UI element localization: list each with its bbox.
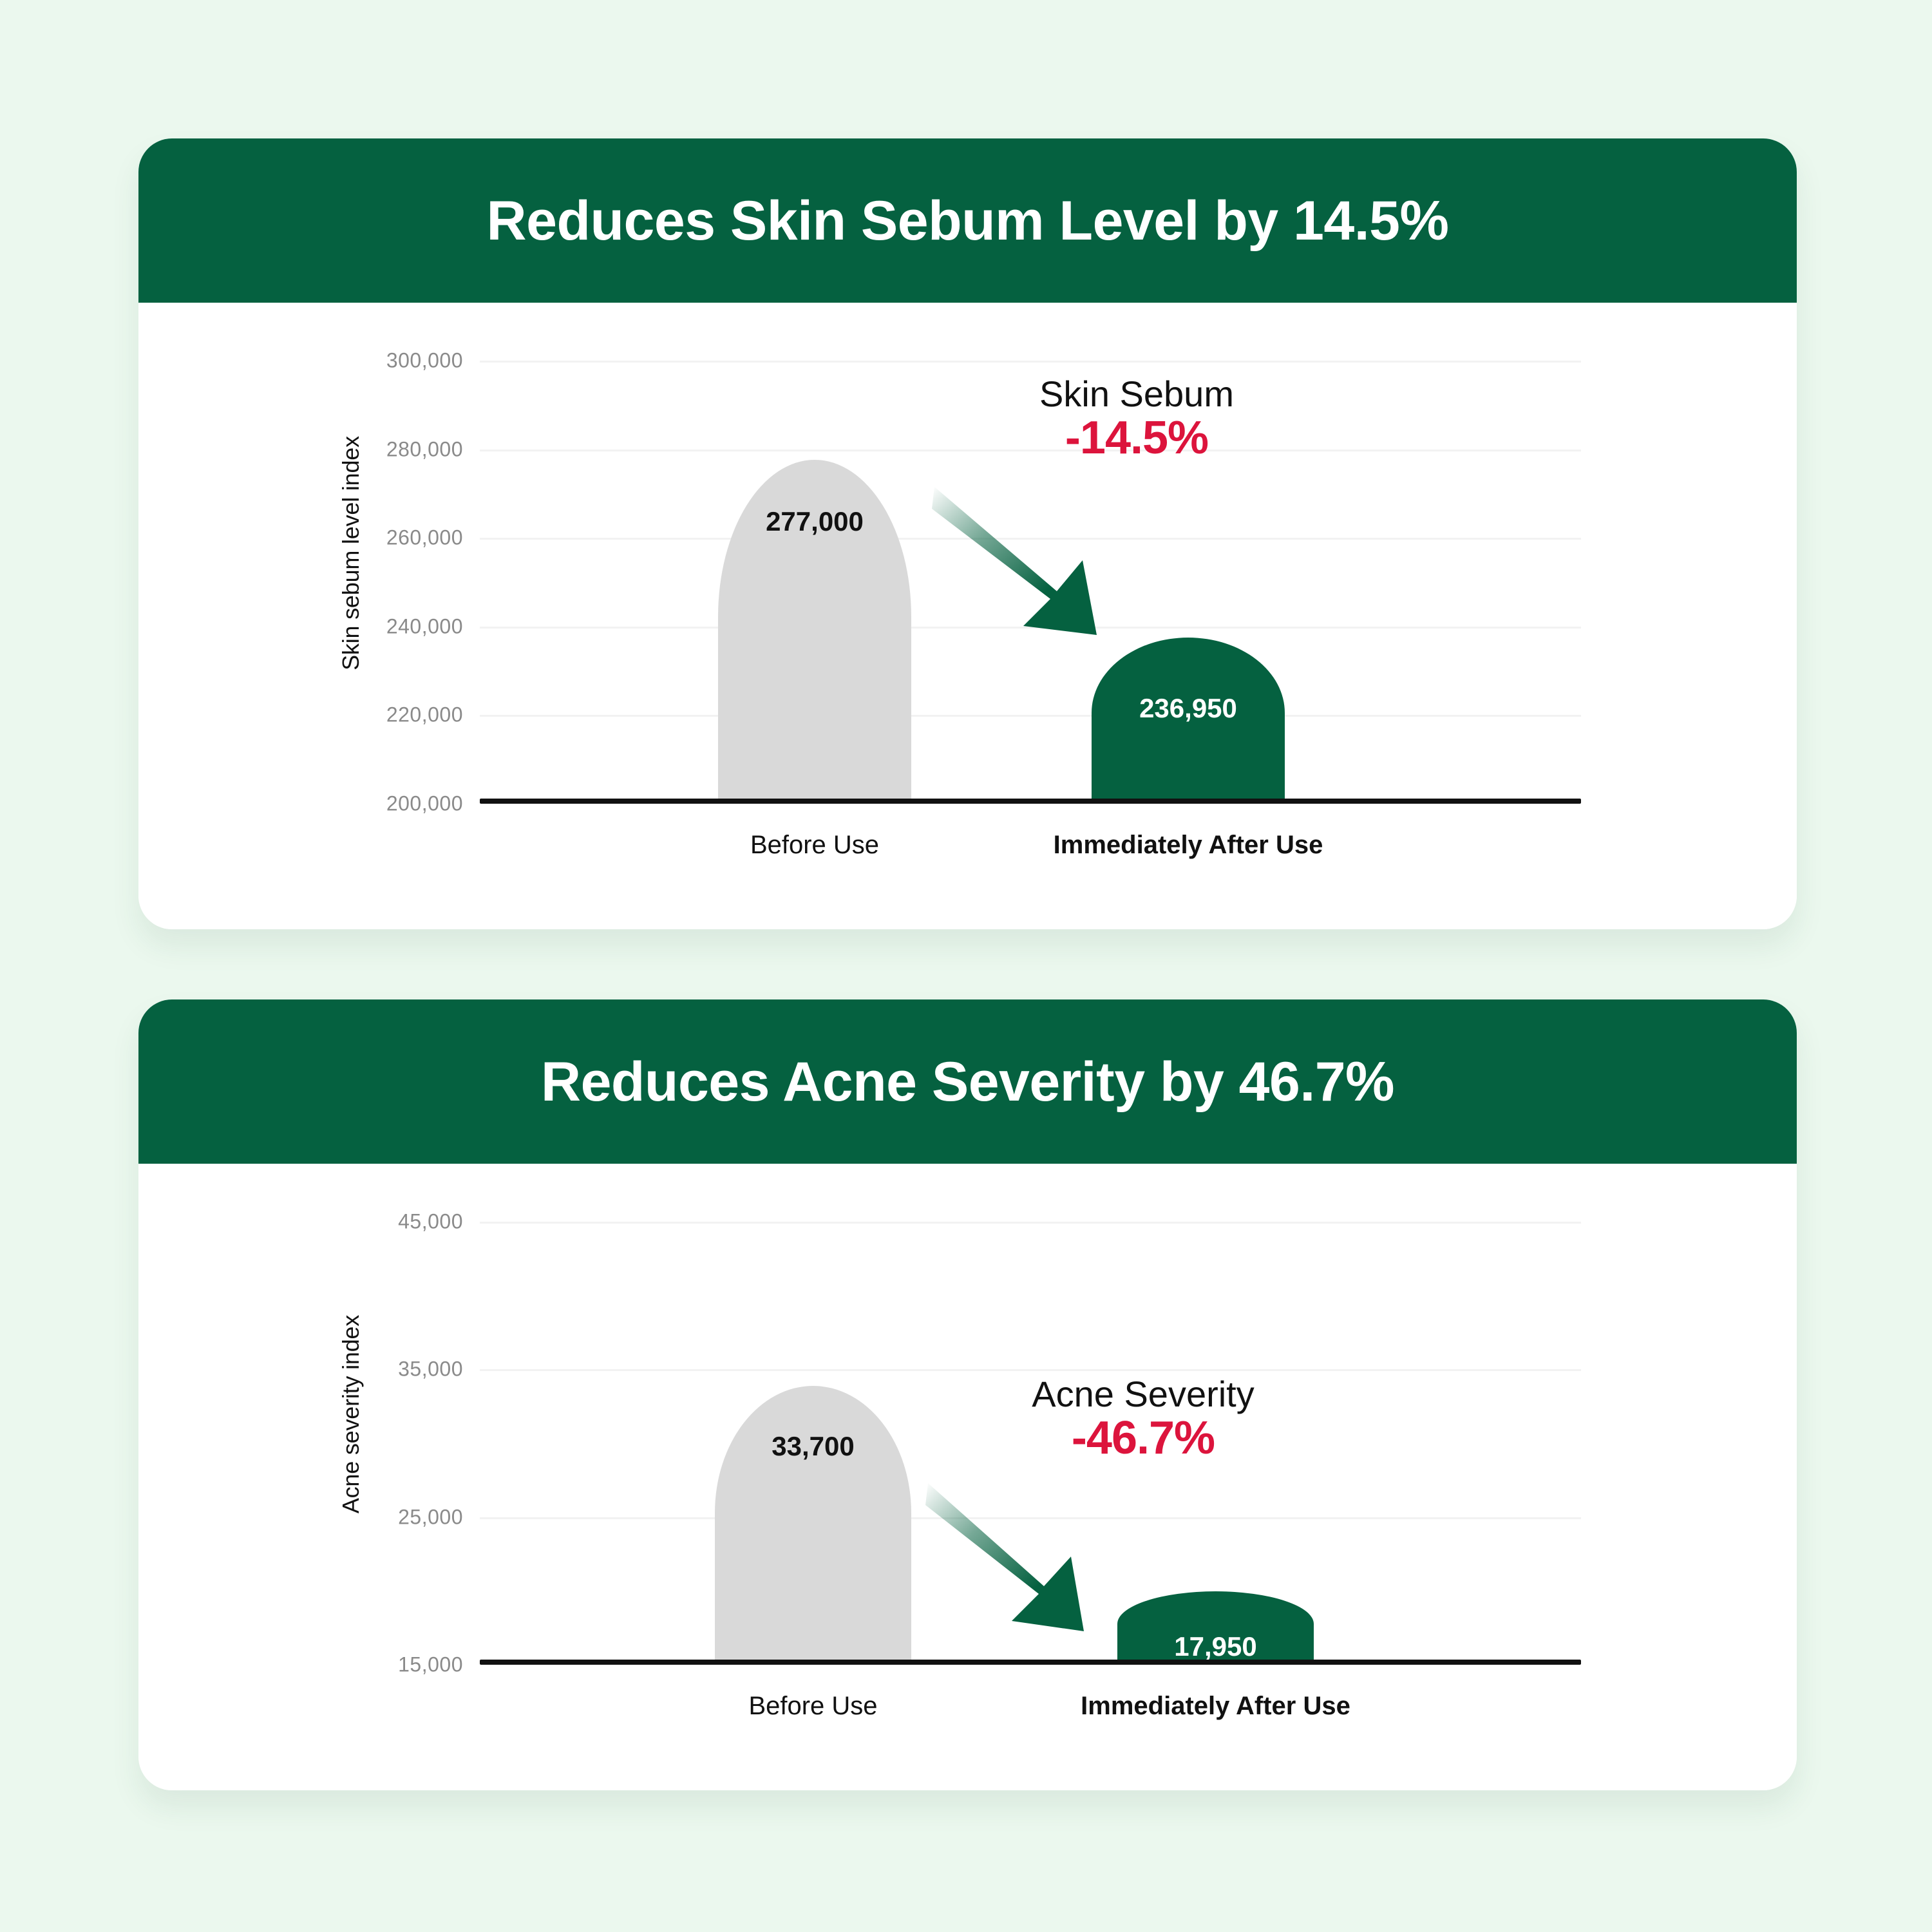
x-axis-line [480,1660,1581,1665]
chart-acne-severity: Acne severity index 45,000 35,000 25,000… [138,1164,1797,1790]
bar-value-label: 236,950 [1092,693,1285,724]
gridline-240000 [480,627,1581,629]
page-title-acne-severity: Reduces Acne Severity by 46.7% [541,1054,1394,1110]
ytick-label: 240,000 [386,614,463,638]
bar-before-use[interactable]: 277,000 Before Use [718,460,911,801]
gridline-45000 [480,1222,1581,1224]
bar-category-label: Immediately After Use [1040,1692,1391,1721]
bar-before-use[interactable]: 33,700 Before Use [715,1386,911,1662]
card-acne-severity: Reduces Acne Severity by 46.7% Acne seve… [138,999,1797,1790]
ytick-label: 15,000 [398,1653,463,1677]
bar-category-label: Before Use [641,831,989,860]
chart-skin-sebum: Skin sebum level index 300,000 280,000 2… [138,303,1797,929]
plot-area-skin-sebum: 300,000 280,000 260,000 240,000 220,000 … [480,361,1581,804]
ytick-label: 300,000 [386,349,463,373]
decrease-arrow-icon [931,483,1143,650]
bar-immediately-after-use[interactable]: 236,950 Immediately After Use [1092,638,1285,801]
ytick-label: 260,000 [386,526,463,550]
card-header-skin-sebum: Reduces Skin Sebum Level by 14.5% [138,138,1797,303]
ytick-label: 280,000 [386,437,463,461]
page-title-skin-sebum: Reduces Skin Sebum Level by 14.5% [487,193,1449,249]
y-axis-title-acne-severity: Acne severity index [332,1164,370,1665]
annotation-metric-label: Skin Sebum [956,375,1317,413]
y-axis-title-skin-sebum: Skin sebum level index [332,303,370,804]
bar-category-label: Before Use [638,1692,989,1721]
bar-shape [715,1386,911,1662]
bar-value-label: 17,950 [1117,1631,1314,1662]
annotation-acne-severity: Acne Severity -46.7% [950,1375,1336,1464]
ytick-label: 45,000 [398,1210,463,1234]
plot-area-acne-severity: 45,000 35,000 25,000 15,000 33,700 Befor… [480,1222,1581,1665]
y-axis-title-label: Acne severity index [337,1315,365,1513]
annotation-skin-sebum: Skin Sebum -14.5% [956,375,1317,464]
bar-immediately-after-use[interactable]: 17,950 Immediately After Use [1117,1591,1314,1662]
bar-category-label: Immediately After Use [1014,831,1362,860]
gridline-220000 [480,715,1581,717]
gridline-25000 [480,1517,1581,1519]
y-axis-title-label: Skin sebum level index [337,436,365,670]
annotation-delta-label: -46.7% [950,1413,1336,1464]
gridline-300000 [480,361,1581,363]
bar-value-label: 33,700 [715,1431,911,1462]
card-header-acne-severity: Reduces Acne Severity by 46.7% [138,999,1797,1164]
ytick-label: 25,000 [398,1505,463,1529]
annotation-delta-label: -14.5% [956,413,1317,464]
ytick-label: 220,000 [386,703,463,727]
decrease-arrow-icon [924,1479,1117,1643]
annotation-metric-label: Acne Severity [950,1375,1336,1413]
ytick-label: 200,000 [386,792,463,816]
bar-value-label: 277,000 [718,506,911,537]
gridline-35000 [480,1369,1581,1371]
infographic-page: Reduces Skin Sebum Level by 14.5% Skin s… [0,0,1932,1932]
card-skin-sebum: Reduces Skin Sebum Level by 14.5% Skin s… [138,138,1797,929]
ytick-label: 35,000 [398,1358,463,1381]
x-axis-line [480,799,1581,804]
gridline-260000 [480,538,1581,540]
